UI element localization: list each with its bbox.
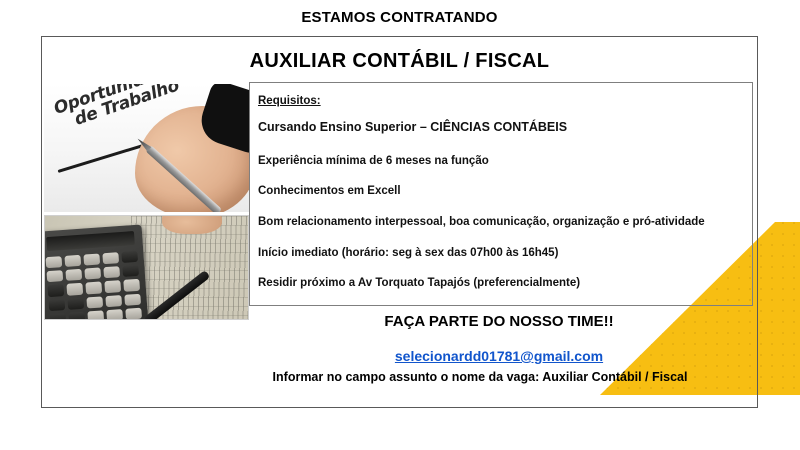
calculator-key [67,297,84,309]
calculator-key [121,251,138,263]
calculator-key [83,253,100,265]
calculator-key [105,295,122,307]
job-title: AUXILIAR CONTÁBIL / FISCAL [41,50,758,73]
requirement-item: Residir próximo a Av Torquato Tapajós (p… [258,277,752,290]
contact-email-line: selecionardd01781@gmail.com [249,348,749,366]
calculator-key [84,268,101,280]
hand-writing-opportunity-photo: Oportunidade de Trabalho [44,84,249,212]
contact-email-link[interactable]: selecionardd01781@gmail.com [395,348,603,364]
calculator-key [47,284,64,296]
calculator-key [66,283,83,295]
calculator-and-ledger-photo [44,215,249,320]
calculator-key [104,280,121,292]
calculator-key [85,282,102,294]
calculator-key [123,279,140,291]
calculator-icon [44,224,148,320]
requirements-list: Cursando Ensino Superior – CIÊNCIAS CONT… [258,121,752,290]
calculator-key [64,255,81,267]
calculator-key [86,296,103,308]
calculator-key [102,252,119,264]
calculator-key [49,313,66,320]
calculator-key [65,269,82,281]
calculator-key [122,265,139,277]
calculator-key [103,266,120,278]
requirement-item: Experiência mínima de 6 meses na função [258,155,752,168]
job-posting-poster: ESTAMOS CONTRATANDO AUXILIAR CONTÁBIL / … [0,0,800,450]
requirement-item: Bom relacionamento interpessoal, boa com… [258,216,752,229]
calculator-keys [46,251,143,320]
calculator-key [106,309,123,320]
calculator-key [125,308,142,320]
calculator-screen [46,231,135,251]
calculator-key [46,256,63,268]
requirement-item: Cursando Ensino Superior – CIÊNCIAS CONT… [258,121,752,135]
calculator-key [87,310,104,320]
calculator-key [68,311,85,320]
requirement-item: Conhecimentos em Excell [258,185,752,198]
requirements-heading: Requisitos: [258,95,321,107]
requirements-box: Requisitos: Cursando Ensino Superior – C… [249,82,753,306]
announcement-headline: ESTAMOS CONTRATANDO [41,9,758,26]
requirement-item: Início imediato (horário: seg à sex das … [258,247,752,260]
hand-thumb-shape [162,215,222,234]
calculator-key [46,270,63,282]
calculator-key [48,299,65,311]
calculator-key [124,293,141,305]
email-subject-instruction: Informar no campo assunto o nome da vaga… [200,370,760,384]
call-to-action-slogan: FAÇA PARTE DO NOSSO TIME!! [249,313,749,330]
